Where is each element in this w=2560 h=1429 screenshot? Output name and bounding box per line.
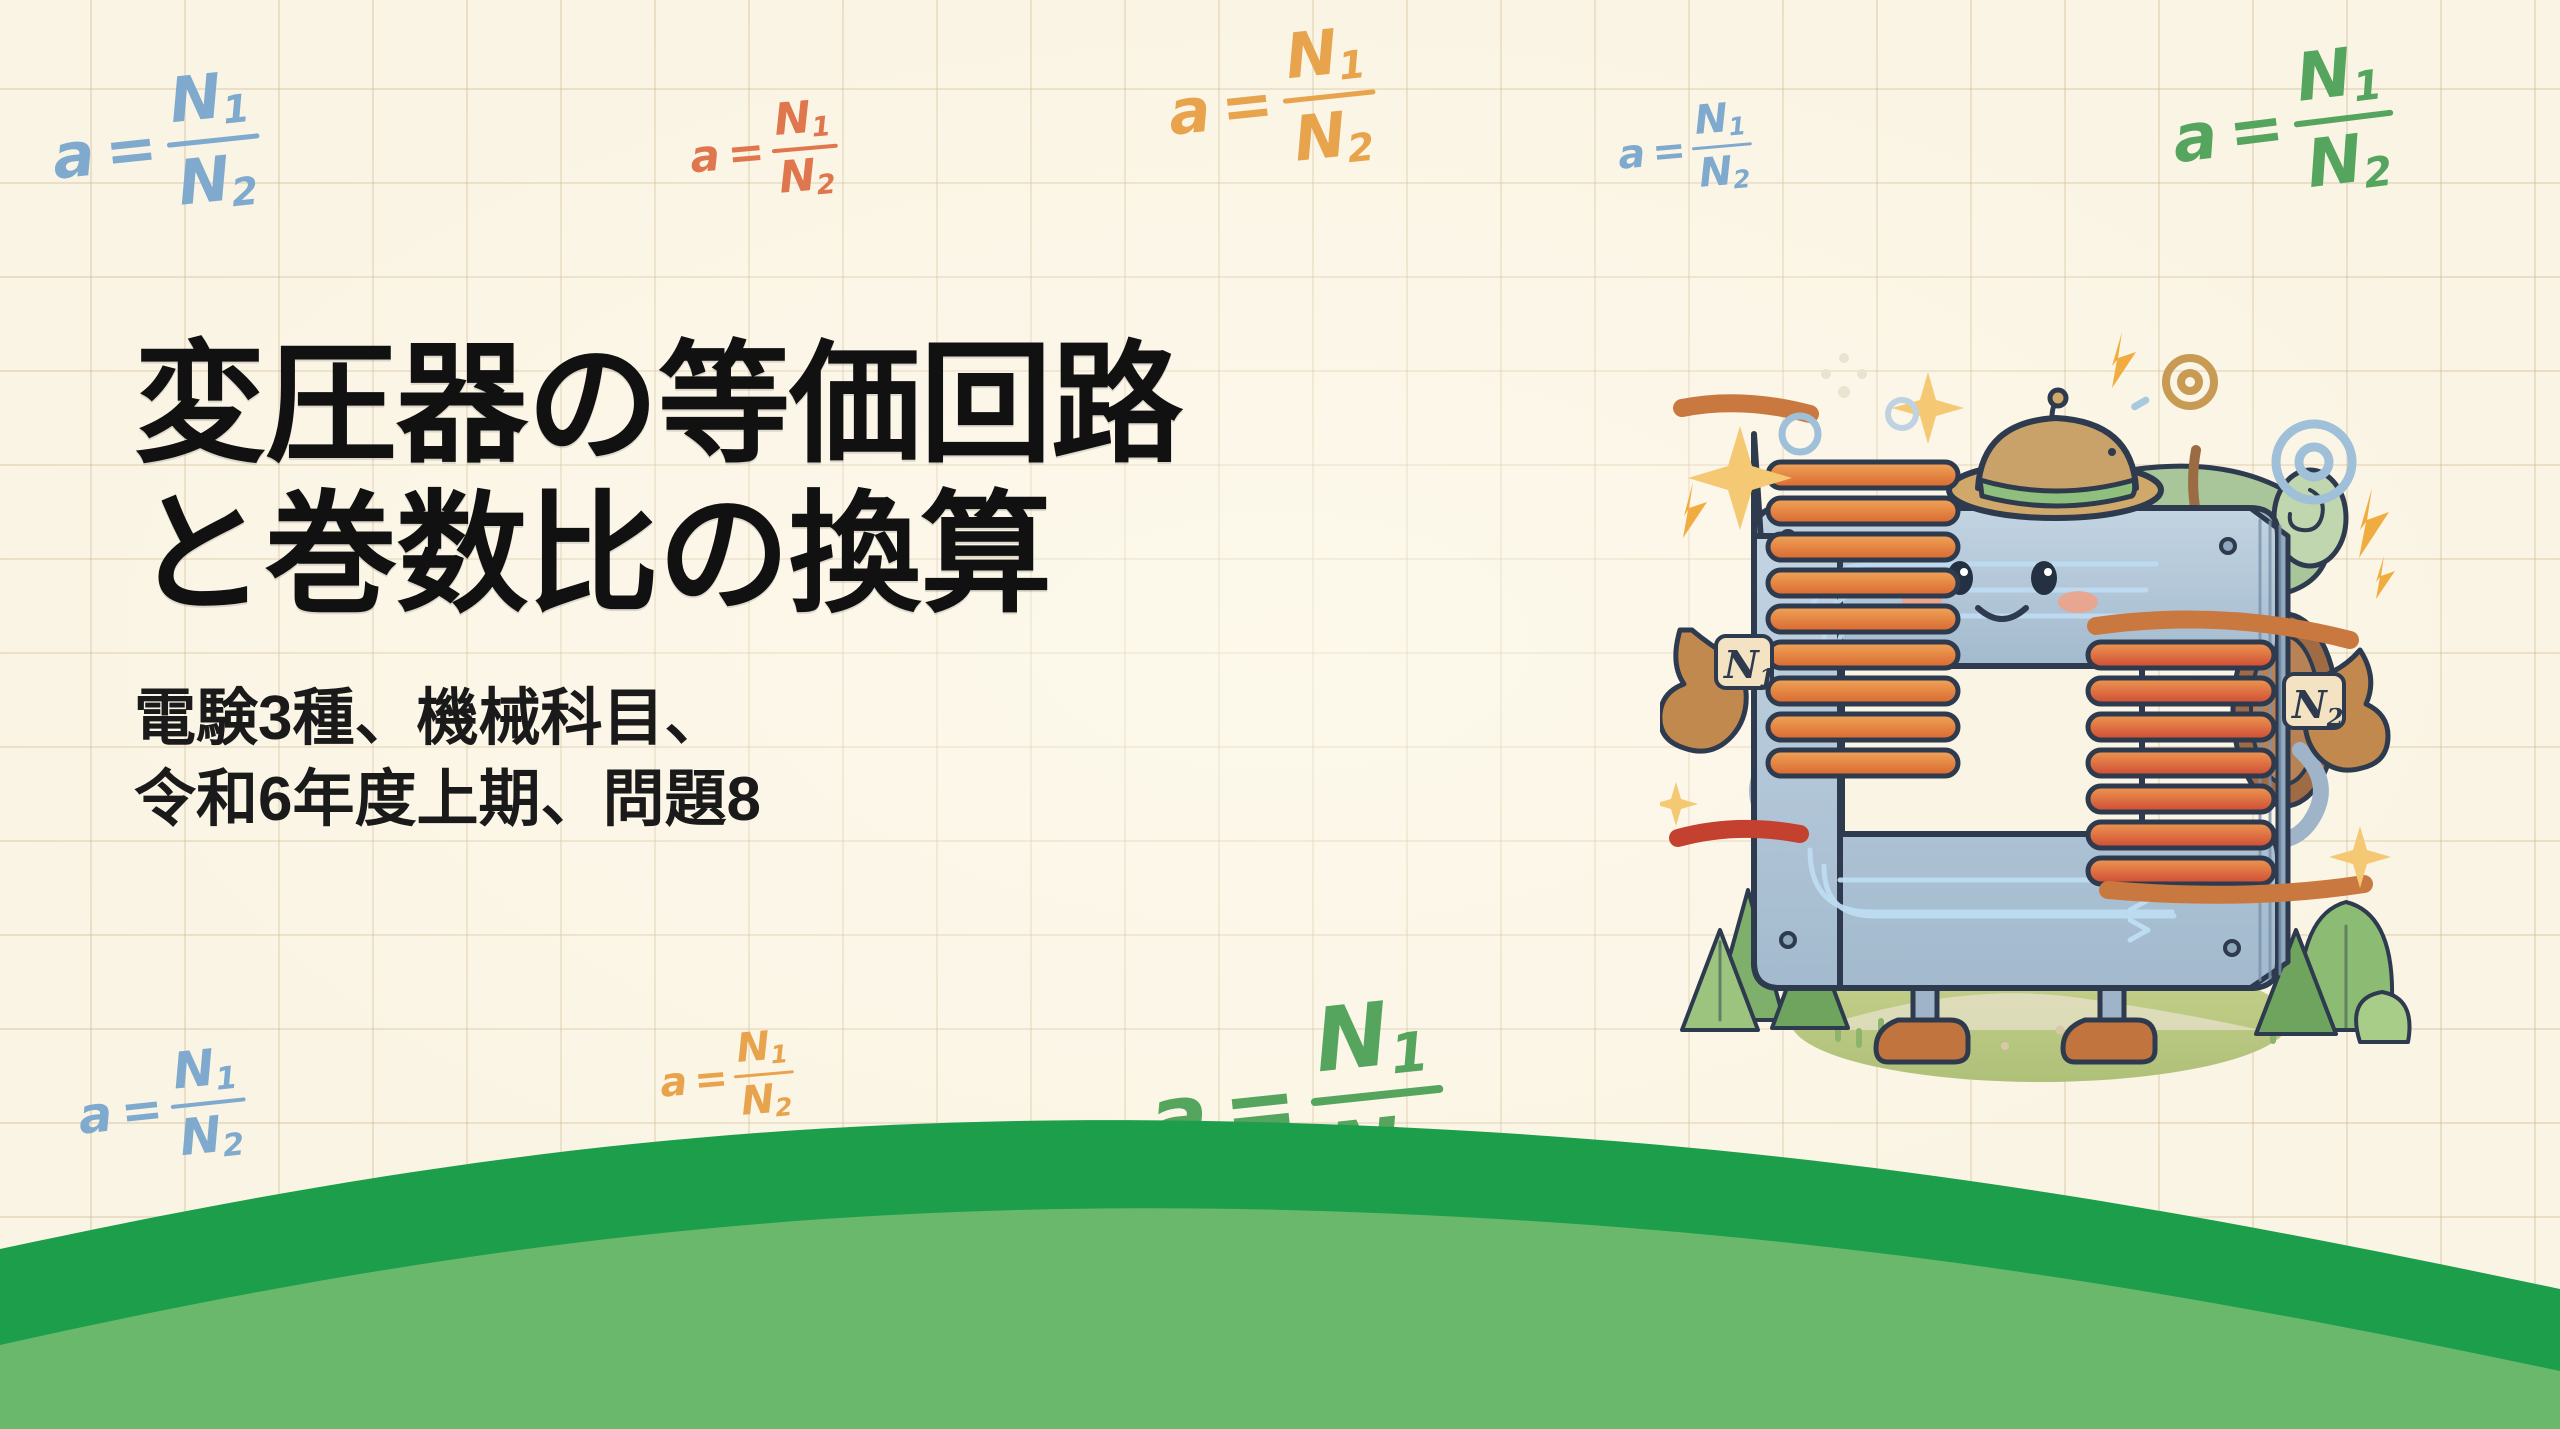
subtitle-block: 電験3種、機械科目、 令和6年度上期、問題8 bbox=[134, 679, 1534, 840]
bottom-wave-decoration bbox=[0, 1099, 2560, 1429]
page-title-line-2: と巻数比の換算 bbox=[134, 480, 1534, 630]
subtitle-line-2: 令和6年度上期、問題8 bbox=[134, 760, 1534, 841]
headline-block: 変圧器の等価回路 と巻数比の換算 電験3種、機械科目、 令和6年度上期、問題8 bbox=[134, 330, 1534, 840]
mascot-illustration: N1 N2 bbox=[1660, 330, 2420, 1090]
subtitle-line-1: 電験3種、機械科目、 bbox=[134, 679, 1534, 760]
banner-canvas: a=N1N2a=N1N2a=N1N2a=N1N2a=N1N2a=N1N2a=N1… bbox=[0, 0, 2560, 1429]
page-title-line-1: 変圧器の等価回路 bbox=[134, 330, 1534, 480]
